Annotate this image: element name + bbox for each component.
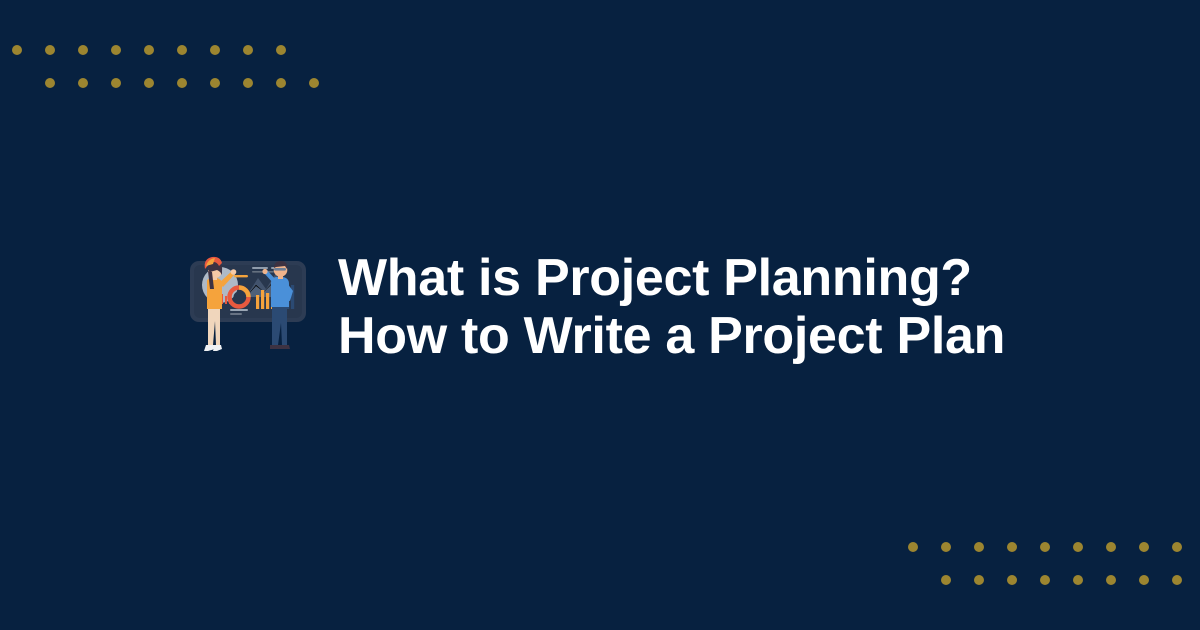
dot xyxy=(1172,542,1182,552)
dot xyxy=(276,45,286,55)
dot xyxy=(177,78,187,88)
dot xyxy=(1139,542,1149,552)
dot xyxy=(243,78,253,88)
dot xyxy=(210,78,220,88)
dot xyxy=(908,542,918,552)
dot xyxy=(111,78,121,88)
dot xyxy=(974,575,984,585)
dot xyxy=(78,45,88,55)
dot xyxy=(243,45,253,55)
dot xyxy=(1007,575,1017,585)
dot xyxy=(1007,542,1017,552)
dot xyxy=(1172,575,1182,585)
dot xyxy=(941,542,951,552)
dot xyxy=(1106,575,1116,585)
dot xyxy=(1139,575,1149,585)
banner-root: What is Project Planning? How to Write a… xyxy=(0,0,1200,630)
dot xyxy=(177,45,187,55)
dot xyxy=(276,78,286,88)
dot xyxy=(309,78,319,88)
dot xyxy=(941,575,951,585)
dot xyxy=(144,78,154,88)
banner-content: What is Project Planning? How to Write a… xyxy=(186,245,1005,369)
dot xyxy=(111,45,121,55)
dot xyxy=(1073,542,1083,552)
dot xyxy=(1106,542,1116,552)
dot xyxy=(974,542,984,552)
dot xyxy=(1040,575,1050,585)
dot xyxy=(78,78,88,88)
dot xyxy=(1073,575,1083,585)
dot xyxy=(1040,542,1050,552)
dot xyxy=(12,45,22,55)
headline-line-2: How to Write a Project Plan xyxy=(338,307,1005,365)
page-title: What is Project Planning? How to Write a… xyxy=(338,249,1005,365)
data-presentation-illustration xyxy=(186,245,310,369)
dot xyxy=(45,45,55,55)
headline-line-1: What is Project Planning? xyxy=(338,249,1005,307)
dot xyxy=(144,45,154,55)
dot xyxy=(45,78,55,88)
dot xyxy=(210,45,220,55)
